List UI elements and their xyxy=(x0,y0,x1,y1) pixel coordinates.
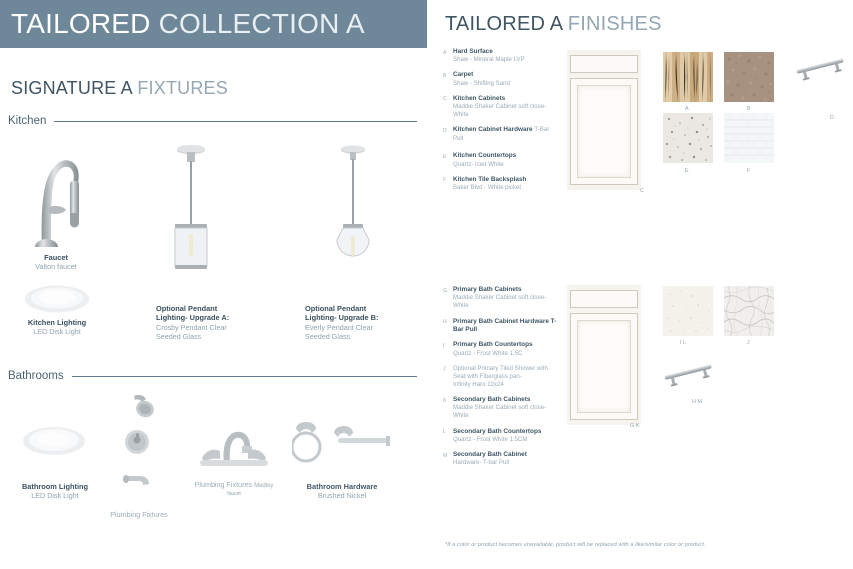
bathroom-hardware-image xyxy=(292,420,392,468)
legend-letter: L xyxy=(443,428,453,444)
bathroom-lighting-label: Bathroom Lighting xyxy=(16,482,94,491)
swatch-label-f: F xyxy=(747,168,750,174)
collection-title-bold: TAILORED xyxy=(0,8,151,40)
bathrooms-label: Bathrooms xyxy=(8,370,72,382)
pendant-a-desc: Crosby Pendant Clear Seeded Glass xyxy=(156,323,240,341)
bathroom-lighting-desc: LED Disk Light xyxy=(16,491,94,500)
legend-name: Primary Bath Countertops xyxy=(453,341,561,349)
primary-shower-tile-swatch xyxy=(724,286,774,336)
pendant-b-desc: Everly Pendant Clear Seeded Glass xyxy=(305,323,389,341)
finishes-title-light: FINISHES xyxy=(568,13,662,35)
signature-section-title: SIGNATURE A FIXTURES xyxy=(11,78,228,99)
legend-letter: E xyxy=(443,152,453,168)
kitchen-section-header: Kitchen xyxy=(8,115,417,127)
legend-item: B Carpet Shaw - Shifting Sand xyxy=(443,71,561,87)
legend-name: Kitchen Countertops xyxy=(453,152,561,160)
legend-desc: Quartz - Frost White 1.5CM xyxy=(453,436,561,444)
bathrooms-divider xyxy=(72,376,417,377)
legend-item: D Kitchen Cabinet Hardware T-Bar Pull xyxy=(443,126,561,143)
swatch-label-e: E xyxy=(685,168,689,174)
kitchen-disk-light-image xyxy=(24,284,90,314)
pendant-a-image xyxy=(163,144,219,274)
medley-faucet-image xyxy=(198,418,270,470)
legend-name: Kitchen Cabinets xyxy=(453,95,561,103)
swatch-label-j: J xyxy=(747,340,750,346)
finishes-legend-group-1: A Hard Surface Shaw - Mineral Maple LVP … xyxy=(443,48,561,199)
medley-faucet-caption: Plumbing Fixtures Medley faucet xyxy=(184,480,284,497)
cabinet-door-face xyxy=(570,313,638,420)
legend-name: Hard Surface xyxy=(453,48,561,56)
legend-item: J Optional Primary Tiled Shower with Sea… xyxy=(443,365,561,389)
collection-title-light: COLLECTION A xyxy=(151,8,365,40)
primary-bath-countertop-swatch xyxy=(663,286,713,336)
cabinet-door-inset xyxy=(577,320,631,412)
swatch-label-gk: G K xyxy=(630,423,639,429)
kitchen-divider xyxy=(54,121,417,122)
faucet-caption: Faucet Valton faucet xyxy=(10,253,102,271)
legend-item: K Secondary Bath Cabinets Maddie Shaker … xyxy=(443,396,561,421)
legend-letter: D xyxy=(443,126,453,143)
legend-item: L Secondary Bath Countertops Quartz - Fr… xyxy=(443,428,561,444)
kitchen-backsplash-swatch xyxy=(724,113,774,163)
bathroom-lighting-caption: Bathroom Lighting LED Disk Light xyxy=(16,482,94,500)
plumbing-fixtures-group-caption: Plumbing Fixtures xyxy=(94,510,184,519)
finishes-legend-group-2: G Primary Bath Cabinets Maddie Shaker Ca… xyxy=(443,286,561,474)
legend-desc: Infinity Haro 12x24 xyxy=(453,381,561,389)
bathroom-hardware-label: Bathroom Hardware xyxy=(296,482,388,491)
cabinet-door-inset xyxy=(577,85,631,177)
swatch-label-a: A xyxy=(685,106,689,112)
collection-sheet: TAILORED COLLECTION A SIGNATURE A FIXTUR… xyxy=(0,0,853,569)
legend-name: Carpet xyxy=(453,71,561,79)
bath-disk-light-image xyxy=(22,425,86,457)
legend-desc: Maddie Shaker Cabinet soft close- White xyxy=(453,103,561,119)
faucet-label: Faucet xyxy=(10,253,102,262)
swatch-label-c: C xyxy=(640,188,644,194)
pendant-b-caption: Optional Pendant Lighting- Upgrade B: Ev… xyxy=(305,304,389,341)
swatch-label-hm: H M xyxy=(692,399,702,405)
plumbing-fixtures-image xyxy=(112,392,170,492)
availability-footnote: *If a color or product becomes unavailab… xyxy=(445,542,706,548)
legend-desc: Shaw - Mineral Maple LVP xyxy=(453,56,561,64)
legend-letter: C xyxy=(443,95,453,120)
legend-letter: H xyxy=(443,318,453,335)
legend-item: A Hard Surface Shaw - Mineral Maple LVP xyxy=(443,48,561,64)
signature-title-light: FIXTURES xyxy=(137,78,228,98)
legend-name: Secondary Bath Cabinets xyxy=(453,396,561,404)
legend-name: Secondary Bath Cabinet xyxy=(453,451,561,459)
legend-desc: Hardware- T-bar Pull xyxy=(453,459,561,467)
legend-item: C Kitchen Cabinets Maddie Shaker Cabinet… xyxy=(443,95,561,120)
hard-surface-swatch xyxy=(663,52,713,102)
swatch-label-b: B xyxy=(747,106,751,112)
legend-letter: J xyxy=(443,365,453,389)
pendant-b-image xyxy=(325,144,381,274)
pendant-a-label: Optional Pendant Lighting- Upgrade A: xyxy=(156,304,240,323)
collection-title-bar: TAILORED COLLECTION A xyxy=(0,0,427,48)
finishes-title: TAILORED A FINISHES xyxy=(445,13,662,36)
signature-title-bold: SIGNATURE A xyxy=(11,78,133,98)
medley-faucet-desc: faucet xyxy=(184,491,284,497)
cabinet-door-face xyxy=(570,78,638,185)
legend-letter: B xyxy=(443,71,453,87)
legend-item: F Kitchen Tile Backsplash Baker Blvd - W… xyxy=(443,176,561,192)
bath-cabinet-door-swatch xyxy=(567,285,641,425)
kitchen-hardware-tbar-pull xyxy=(791,52,851,88)
pendant-b-label: Optional Pendant Lighting- Upgrade B: xyxy=(305,304,389,323)
legend-desc: Maddie Shaker Cabinet soft close- White xyxy=(453,404,561,420)
legend-letter: G xyxy=(443,286,453,311)
cabinet-drawer-face xyxy=(570,290,638,308)
finishes-title-bold: TAILORED A xyxy=(445,13,563,35)
kitchen-lighting-label: Kitchen Lighting xyxy=(10,318,104,327)
legend-name: Primary Bath Cabinet Hardware T-Bar Pull xyxy=(453,318,561,335)
legend-desc: Shaw - Shifting Sand xyxy=(453,80,561,88)
faucet-desc: Valton faucet xyxy=(10,262,102,271)
legend-name: Kitchen Cabinet Hardware T-Bar Pull xyxy=(453,126,561,143)
kitchen-lighting-caption: Kitchen Lighting LED Disk Light xyxy=(10,318,104,336)
bathroom-hardware-caption: Bathroom Hardware Brushed Nickel xyxy=(296,482,388,500)
legend-desc: Quartz- Iced White xyxy=(453,161,561,169)
legend-item: I Primary Bath Countertops Quartz - Fros… xyxy=(443,341,561,357)
legend-letter: I xyxy=(443,341,453,357)
legend-item: E Kitchen Countertops Quartz- Iced White xyxy=(443,152,561,168)
kitchen-cabinet-door-swatch xyxy=(567,50,641,190)
legend-letter: M xyxy=(443,451,453,467)
faucet-image xyxy=(22,143,90,255)
swatch-label-d: D xyxy=(830,115,834,121)
swatch-label-il: I L xyxy=(680,340,686,346)
legend-letter: A xyxy=(443,48,453,64)
bathroom-hardware-desc: Brushed Nickel xyxy=(296,491,388,500)
legend-desc: Maddie Shaker Cabinet soft close- White xyxy=(453,294,561,310)
cabinet-drawer-face xyxy=(570,55,638,73)
kitchen-countertop-swatch xyxy=(663,113,713,163)
legend-desc: Quartz - Frost White 1.5C xyxy=(453,350,561,358)
kitchen-label: Kitchen xyxy=(8,115,54,127)
medley-faucet-label: Plumbing Fixtures Medley xyxy=(184,480,284,491)
legend-item: H Primary Bath Cabinet Hardware T-Bar Pu… xyxy=(443,318,561,335)
plumbing-fixtures-group-label: Plumbing Fixtures xyxy=(94,510,184,519)
legend-desc: Baker Blvd - White picket xyxy=(453,184,561,192)
legend-item: G Primary Bath Cabinets Maddie Shaker Ca… xyxy=(443,286,561,311)
legend-letter: F xyxy=(443,176,453,192)
legend-name: Secondary Bath Countertops xyxy=(453,428,561,436)
kitchen-lighting-desc: LED Disk Light xyxy=(10,327,104,336)
pendant-a-caption: Optional Pendant Lighting- Upgrade A: Cr… xyxy=(156,304,240,341)
right-column: TAILORED A FINISHES A Hard Surface Shaw … xyxy=(427,0,853,569)
medley-faucet-brand: Medley xyxy=(254,483,273,489)
bath-hardware-tbar-pull xyxy=(659,358,719,394)
legend-letter: K xyxy=(443,396,453,421)
legend-item: M Secondary Bath Cabinet Hardware- T-bar… xyxy=(443,451,561,467)
legend-name: Kitchen Tile Backsplash xyxy=(453,176,561,184)
left-column: TAILORED COLLECTION A SIGNATURE A FIXTUR… xyxy=(0,0,427,569)
carpet-swatch xyxy=(724,52,774,102)
legend-name: Optional Primary Tiled Shower with Seat … xyxy=(453,365,561,381)
bathrooms-section-header: Bathrooms xyxy=(8,370,417,382)
legend-name: Primary Bath Cabinets xyxy=(453,286,561,294)
